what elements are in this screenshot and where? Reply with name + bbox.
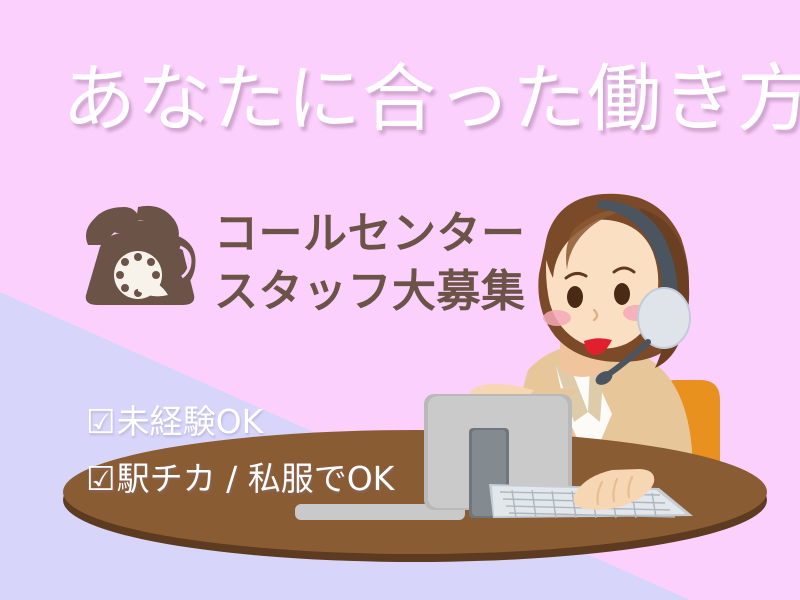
checked-box-icon: ☑: [86, 405, 116, 438]
poster-canvas: あなたに合った働き方 コールセンター スタッフ大募集 ☑: [0, 0, 800, 600]
page-title: あなたに合った働き方: [62, 62, 762, 136]
list-item-label: 未経験OK: [117, 405, 264, 438]
benefit-list: ☑ 未経験OK ☑ 駅チカ / 私服でOK: [86, 405, 394, 519]
list-item-label: 駅チカ / 私服でOK: [117, 462, 395, 495]
rotary-telephone-icon: [76, 203, 208, 315]
list-item: ☑ 駅チカ / 私服でOK: [86, 462, 394, 495]
subtitle-line-1: コールセンター: [214, 205, 526, 263]
list-item: ☑ 未経験OK: [86, 405, 394, 438]
subtitle-line-2: スタッフ大募集: [214, 263, 526, 321]
subtitle: コールセンター スタッフ大募集: [214, 205, 526, 321]
checked-box-icon: ☑: [86, 462, 116, 495]
